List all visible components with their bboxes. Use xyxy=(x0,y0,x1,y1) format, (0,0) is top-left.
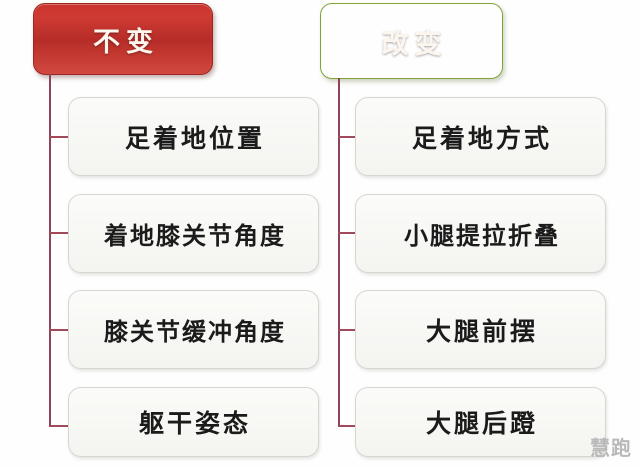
item-label-left-2: 着地膝关节角度 xyxy=(101,216,286,251)
header-box-unchanged[interactable]: 不变 xyxy=(33,3,213,75)
item-label-right-2: 小腿提拉折叠 xyxy=(401,216,560,251)
item-box-left-4[interactable]: 躯干姿态 xyxy=(68,387,319,457)
item-box-right-3[interactable]: 大腿前摆 xyxy=(355,290,606,369)
header-box-changed[interactable]: 改变 xyxy=(320,3,503,79)
watermark-label: 慧跑 xyxy=(590,432,632,461)
item-box-left-2[interactable]: 着地膝关节角度 xyxy=(68,194,319,273)
item-label-left-1: 足着地位置 xyxy=(122,119,265,155)
item-label-right-4: 大腿后蹬 xyxy=(423,404,538,440)
item-label-left-3: 膝关节缓冲角度 xyxy=(101,312,286,347)
item-box-right-2[interactable]: 小腿提拉折叠 xyxy=(355,194,606,273)
connector-stub-left-4 xyxy=(49,425,69,427)
header-label-unchanged: 不变 xyxy=(87,20,159,59)
connector-trunk-right xyxy=(338,78,340,426)
item-label-right-3: 大腿前摆 xyxy=(423,312,538,348)
item-box-left-1[interactable]: 足着地位置 xyxy=(68,97,319,176)
item-label-right-1: 足着地方式 xyxy=(409,119,552,155)
item-box-left-3[interactable]: 膝关节缓冲角度 xyxy=(68,290,319,369)
connector-stub-left-2 xyxy=(49,232,69,234)
header-label-changed: 改变 xyxy=(376,22,448,61)
item-box-right-1[interactable]: 足着地方式 xyxy=(355,97,606,176)
connector-stub-left-3 xyxy=(49,329,69,331)
connector-trunk-left xyxy=(49,74,51,426)
diagram-canvas: 不变 足着地位置 着地膝关节角度 膝关节缓冲角度 躯干姿态 改变 足着地方式 小… xyxy=(0,0,640,467)
connector-stub-left-1 xyxy=(49,136,69,138)
item-box-right-4[interactable]: 大腿后蹬 xyxy=(355,387,606,457)
item-label-left-4: 躯干姿态 xyxy=(136,404,251,440)
